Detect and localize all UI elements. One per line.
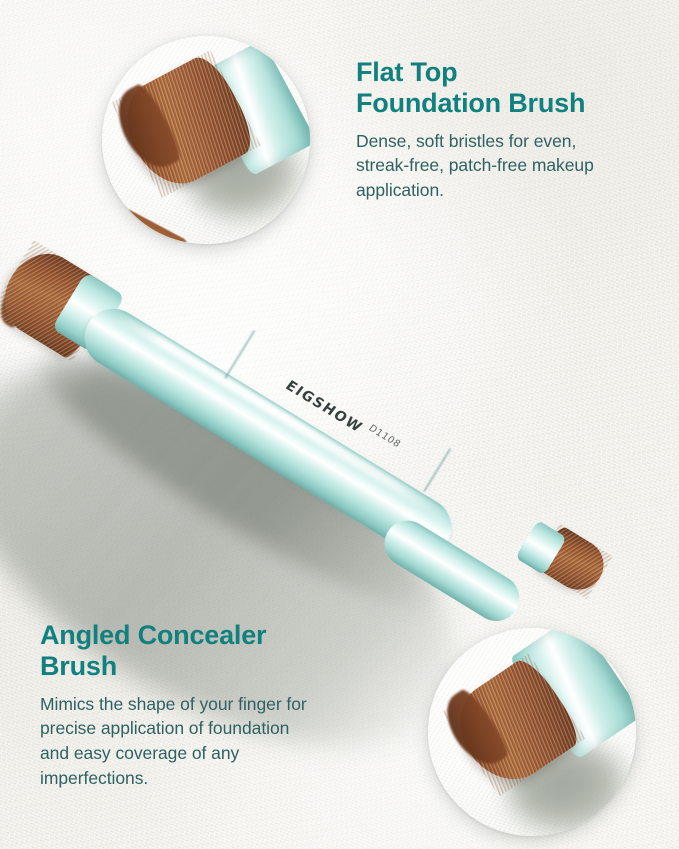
feature-heading: Flat Top Foundation Brush (356, 57, 656, 120)
feature-body: Dense, soft bristles for even, streak-fr… (356, 129, 656, 204)
inset-flat-top-foundation-brush (102, 36, 310, 244)
feature-text-flat-top-foundation: Flat Top Foundation Brush Dense, soft br… (356, 57, 656, 203)
inset-angled-concealer-brush (428, 628, 636, 836)
feature-text-angled-concealer: Angled Concealer Brush Mimics the shape … (40, 620, 350, 791)
feature-body: Mimics the shape of your finger for prec… (40, 692, 350, 791)
product-feature-image: EIGSHOW D1108 Flat Top Foundation Brush … (0, 0, 679, 849)
feature-heading: Angled Concealer Brush (40, 620, 350, 683)
